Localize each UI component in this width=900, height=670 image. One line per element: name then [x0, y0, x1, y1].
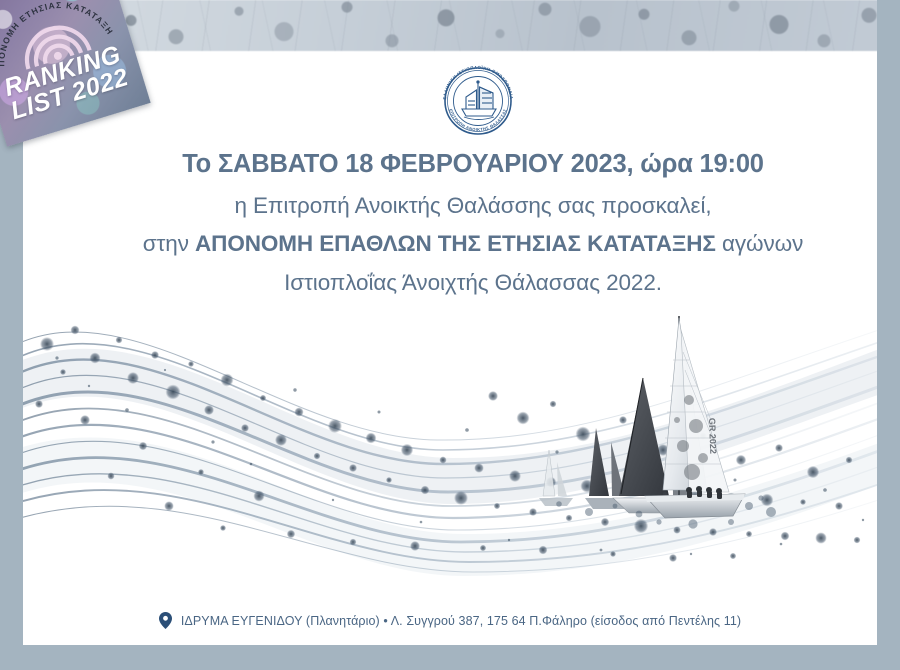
location-pin-icon: [159, 612, 172, 629]
invitation-poster: ΕΛΛΗΝΙΚΗ ΙΣΤΙΟΠΛΟΪΚΗ ΟΜΟΣΠΟΝΔΙΑ ΕΠΙΤΡΟΠΗ…: [0, 0, 900, 670]
headline-block: Το ΣΑΒΒΑΤΟ 18 ΦΕΒΡΟΥΑΡΙΟΥ 2023, ώρα 19:0…: [46, 152, 877, 294]
headline-sailing-year: Ιστιοπλοΐας Άνοιχτής Θάλασσας 2022.: [46, 272, 877, 295]
award-line-suffix: αγώνων: [716, 231, 803, 256]
venue-address-text: ΙΔΡΥΜΑ ΕΥΓΕΝΙΔΟΥ (Πλανητάριο) • Λ. Συγγρ…: [181, 614, 741, 628]
sailboats-photo: GR 2022: [493, 300, 793, 530]
top-splatter-band: [23, 0, 877, 51]
award-line-prefix: στην: [143, 231, 195, 256]
venue-footer: ΙΔΡΥΜΑ ΕΥΓΕΝΙΔΟΥ (Πλανητάριο) • Λ. Συγγρ…: [23, 612, 877, 629]
sailing-ship-icon: [462, 81, 496, 120]
headline-invite-line: η Επιτροπή Ανοικτής Θαλάσσης σας προσκαλ…: [46, 195, 877, 218]
award-line-bold: ΑΠΟΝΟΜΗ ΕΠΑΘΛΩΝ ΤΗΣ ΕΤΗΣΙΑΣ ΚΑΤΑΤΑΞΗΣ: [195, 231, 716, 256]
svg-text:GR 2022: GR 2022: [707, 418, 718, 454]
sailing-federation-seal: ΕΛΛΗΝΙΚΗ ΙΣΤΙΟΠΛΟΪΚΗ ΟΜΟΣΠΟΝΔΙΑ ΕΠΙΤΡΟΠΗ…: [438, 57, 518, 145]
headline-award-line: στην ΑΠΟΝΟΜΗ ΕΠΑΘΛΩΝ ΤΗΣ ΕΤΗΣΙΑΣ ΚΑΤΑΤΑΞ…: [46, 233, 877, 256]
headline-date-time: Το ΣΑΒΒΑΤΟ 18 ΦΕΒΡΟΥΑΡΙΟΥ 2023, ώρα 19:0…: [46, 152, 877, 178]
poster-card: ΕΛΛΗΝΙΚΗ ΙΣΤΙΟΠΛΟΪΚΗ ΟΜΟΣΠΟΝΔΙΑ ΕΠΙΤΡΟΠΗ…: [23, 0, 877, 645]
